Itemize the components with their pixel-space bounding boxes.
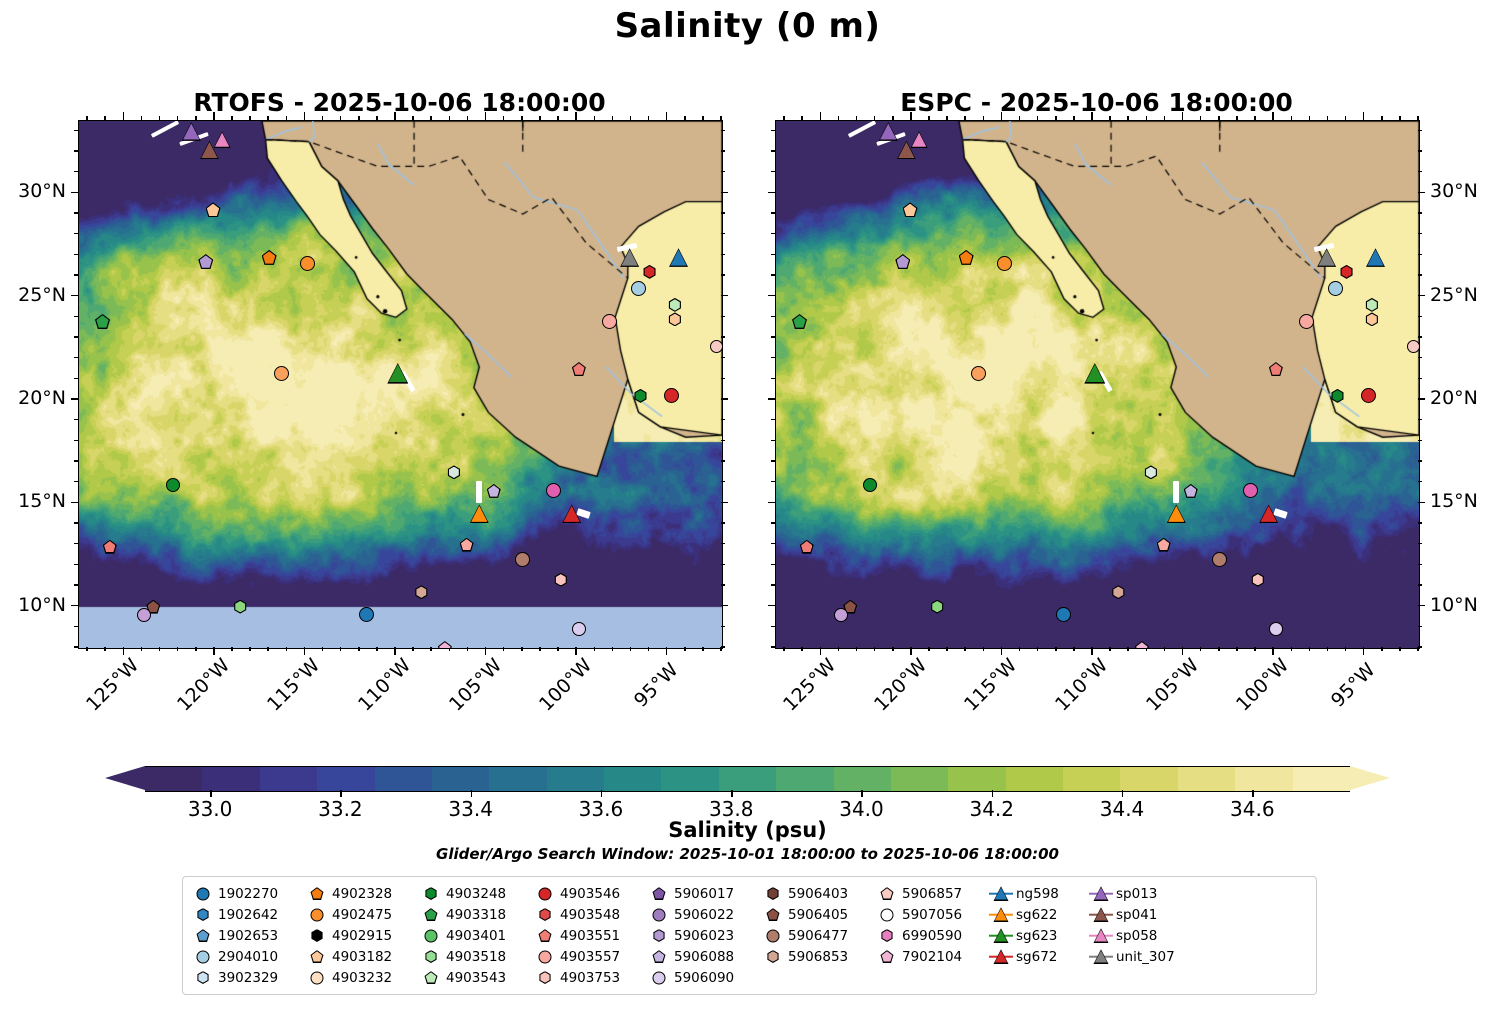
legend-item-5906022[interactable]: 5906022 (647, 904, 759, 925)
legend-box[interactable]: 1902270190264219026532904010390232949023… (182, 876, 1317, 995)
lat-tick (74, 419, 78, 421)
lat-tick (74, 274, 78, 276)
map-marker-4903182[interactable] (903, 202, 918, 217)
legend-item-5906853[interactable]: 5906853 (761, 946, 873, 967)
x-axis-tick-label: 125°W (779, 659, 836, 716)
legend-item-4903232[interactable]: 4903232 (305, 967, 417, 988)
map-marker-4903543[interactable] (792, 314, 807, 329)
lon-tick (1164, 647, 1166, 651)
legend-item-label: 4903753 (557, 970, 620, 986)
y-axis-tick-label: 30°N (1430, 180, 1495, 202)
lat-tick (74, 564, 78, 566)
lat-tick (771, 440, 775, 442)
map-marker-4903248[interactable] (166, 478, 180, 492)
map-marker-4903546[interactable] (1340, 265, 1354, 279)
lat-tick (74, 440, 78, 442)
map-marker-5907056[interactable] (546, 483, 561, 498)
lon-tick (123, 112, 125, 120)
lat-tick (1418, 481, 1422, 483)
map-marker-4903518b[interactable] (1365, 298, 1379, 312)
lon-tick (1091, 112, 1093, 120)
legend-item-4903401[interactable]: 4903401 (419, 925, 531, 946)
lat-tick (1418, 398, 1425, 400)
lon-tick (159, 647, 161, 651)
colorbar-tick (340, 790, 341, 797)
legend-item-4902475[interactable]: 4902475 (305, 904, 417, 925)
lon-tick (141, 116, 143, 120)
legend-item-4903753[interactable]: 4903753 (533, 967, 645, 988)
map-marker-4903548[interactable] (1361, 388, 1376, 403)
map-marker-unit_307[interactable] (620, 248, 639, 267)
map-marker-4903248[interactable] (863, 478, 877, 492)
map-marker-5906090[interactable] (572, 622, 586, 636)
lon-tick (1091, 647, 1093, 655)
colorbar-band-16 (1063, 767, 1120, 791)
lon-tick (249, 116, 251, 120)
colorbar-band-9 (661, 767, 718, 791)
legend-item-label: sg622 (1013, 907, 1057, 923)
lon-tick (213, 112, 215, 120)
legend-item-label: 4903182 (329, 949, 392, 965)
lon-tick (964, 647, 966, 651)
lon-tick (521, 116, 523, 120)
lat-tick (771, 481, 775, 483)
map-marker-7902104[interactable] (1135, 641, 1149, 649)
lon-tick (720, 647, 722, 651)
map-marker-5906090[interactable] (1269, 622, 1283, 636)
legend-item-label: sp013 (1113, 886, 1157, 902)
legend-item-label: 5906023 (671, 928, 734, 944)
lat-tick (1418, 440, 1422, 442)
lon-tick (856, 116, 858, 120)
legend-item-4903557[interactable]: 4903557 (533, 946, 645, 967)
map-marker-4903551b[interactable] (1269, 362, 1283, 376)
x-axis-tick-label: 125°W (82, 659, 139, 716)
map-marker-5906017[interactable] (895, 254, 910, 269)
lat-tick (1418, 626, 1422, 628)
map-marker-5906017[interactable] (198, 254, 213, 269)
legend-item-4903546[interactable]: 4903546 (533, 883, 645, 904)
map-marker-4903546[interactable] (643, 265, 657, 279)
lat-tick (721, 336, 725, 338)
map-marker-4903557[interactable] (1157, 538, 1171, 552)
legend-item-4903551[interactable]: 4903551 (533, 925, 645, 946)
map-marker-4902328[interactable] (262, 250, 277, 265)
map-marker-4902475[interactable] (997, 256, 1012, 271)
lon-tick (1291, 116, 1293, 120)
lon-tick (358, 116, 360, 120)
map-marker-5906853[interactable] (414, 585, 428, 599)
map-marker-4903232[interactable] (668, 312, 682, 326)
lon-tick (648, 647, 650, 651)
map-marker-ng598[interactable] (1366, 248, 1385, 267)
lat-tick (71, 398, 78, 400)
lon-tick (557, 116, 559, 120)
y-axis-tick-label: 15°N (0, 490, 66, 512)
map-marker-4903548[interactable] (664, 388, 679, 403)
search-window-caption: Glider/Argo Search Window: 2025-10-01 18… (0, 845, 1495, 863)
lon-tick (449, 116, 451, 120)
map-marker-sg622[interactable] (1167, 504, 1186, 523)
colorbar-band-3 (317, 767, 374, 791)
legend-item-label: 4903551 (557, 928, 620, 944)
legend-column-blue: 19022701902642190265329040103902329 (191, 883, 303, 990)
lat-tick (71, 192, 78, 194)
map-marker-4903518[interactable] (1144, 465, 1158, 479)
map-marker-4903518b[interactable] (668, 298, 682, 312)
lon-tick (702, 647, 704, 651)
colorbar-extend-max (1350, 766, 1390, 790)
lon-tick (892, 647, 894, 651)
legend-item-label: sp041 (1113, 907, 1157, 923)
legend-column-green: 49032484903318490340149035184903543 (419, 883, 531, 990)
map-marker-5906088[interactable] (487, 484, 501, 498)
colorbar-tick (992, 790, 993, 797)
colorbar-band-2 (260, 767, 317, 791)
map-marker-4903318[interactable] (1330, 389, 1344, 403)
legend-item-label: 5907056 (899, 907, 962, 923)
lon-tick (575, 647, 577, 655)
map-marker-4903182[interactable] (206, 202, 221, 217)
legend-marker-4902915 (305, 926, 329, 946)
lat-tick (721, 316, 725, 318)
lon-tick (340, 647, 342, 651)
legend-item-5906477[interactable]: 5906477 (761, 925, 873, 946)
map-marker-7902104[interactable] (438, 641, 452, 649)
colorbar-band-7 (547, 767, 604, 791)
map-marker-4903401[interactable] (930, 600, 944, 614)
lon-tick (267, 116, 269, 120)
lon-tick (1218, 647, 1220, 651)
map-marker-2904010[interactable] (631, 281, 646, 296)
legend-item-7902104[interactable]: 7902104 (875, 946, 987, 967)
colorbar-band-15 (1006, 767, 1063, 791)
legend-item-3902329[interactable]: 3902329 (191, 967, 303, 988)
salinity-field-rtofs (79, 121, 722, 648)
lat-tick (74, 584, 78, 586)
map-marker-1902270[interactable] (359, 607, 374, 622)
map-marker-4903551b[interactable] (572, 362, 586, 376)
lat-tick (74, 316, 78, 318)
map-panel-espc[interactable] (775, 120, 1420, 649)
lat-tick (74, 378, 78, 380)
map-marker-5906853[interactable] (1111, 585, 1125, 599)
lon-tick (539, 116, 541, 120)
legend-item-2904010[interactable]: 2904010 (191, 946, 303, 967)
legend-marker-6990590 (875, 926, 899, 946)
legend-item-label: 2904010 (215, 949, 278, 965)
colorbar-extend-min (105, 766, 145, 790)
legend-item-sp013[interactable]: sp013 (1089, 883, 1201, 904)
map-marker-4902915[interactable] (971, 366, 986, 381)
lon-tick (1001, 647, 1003, 655)
lon-tick (1381, 116, 1383, 120)
colorbar-band-1 (202, 767, 259, 791)
lon-tick (467, 116, 469, 120)
y-axis-tick-label: 25°N (0, 284, 66, 306)
lat-tick (771, 626, 775, 628)
legend-item-label: sg623 (1013, 928, 1057, 944)
lat-tick (74, 150, 78, 152)
lon-tick (702, 116, 704, 120)
legend-item-label: 4903248 (443, 886, 506, 902)
legend-item-label: 4903318 (443, 907, 506, 923)
lon-tick (1327, 647, 1329, 651)
legend-marker-unit_307 (1089, 947, 1113, 967)
legend-item-label: 5906088 (671, 949, 734, 965)
colorbar-band-11 (776, 767, 833, 791)
lat-tick (721, 233, 725, 235)
map-marker-1902270[interactable] (1056, 607, 1071, 622)
lon-tick (1073, 116, 1075, 120)
legend-marker-4902475 (305, 905, 329, 925)
lat-tick (721, 481, 725, 483)
legend-item-5906017[interactable]: 5906017 (647, 883, 759, 904)
lon-tick (86, 647, 88, 651)
legend-item-6990590[interactable]: 6990590 (875, 925, 987, 946)
legend-item-4903248[interactable]: 4903248 (419, 883, 531, 904)
map-marker-sp013[interactable] (182, 122, 201, 141)
lat-tick (721, 419, 725, 421)
map-marker-4903753[interactable] (1251, 573, 1265, 587)
map-marker-sg622[interactable] (470, 504, 489, 523)
legend-item-4903182[interactable]: 4903182 (305, 946, 417, 967)
lon-tick (1001, 112, 1003, 120)
legend-item-4902915[interactable]: 4902915 (305, 925, 417, 946)
legend-marker-5907056 (875, 905, 899, 925)
lon-tick (286, 647, 288, 651)
map-marker-4902915[interactable] (274, 366, 289, 381)
legend-item-label: 1902642 (215, 907, 278, 923)
legend-item-4903518[interactable]: 4903518 (419, 946, 531, 967)
map-marker-4903551[interactable] (103, 540, 117, 554)
legend-item-1902642[interactable]: 1902642 (191, 904, 303, 925)
colorbar-band-12 (834, 767, 891, 791)
lon-tick (1254, 116, 1256, 120)
map-marker-4902328[interactable] (959, 250, 974, 265)
lon-tick (666, 647, 668, 655)
legend-column-pink: 5906857590705669905907902104 (875, 883, 987, 990)
legend-item-sp041[interactable]: sp041 (1089, 904, 1201, 925)
map-marker-4903753[interactable] (554, 573, 568, 587)
lon-tick (630, 116, 632, 120)
lat-tick (74, 336, 78, 338)
lat-tick (771, 130, 775, 132)
lon-tick (213, 647, 215, 655)
legend-item-5906857[interactable]: 5906857 (875, 883, 987, 904)
colorbar-band-0 (145, 767, 202, 791)
lon-tick (1019, 116, 1021, 120)
legend-marker-4903518 (419, 947, 443, 967)
lat-tick (1418, 564, 1422, 566)
legend-marker-5906023 (647, 926, 671, 946)
legend-item-sp058[interactable]: sp058 (1089, 925, 1201, 946)
lat-tick (771, 378, 775, 380)
lon-tick (910, 647, 912, 655)
lat-tick (1418, 543, 1422, 545)
map-marker-5906857[interactable] (710, 340, 723, 353)
map-marker-2904010[interactable] (1328, 281, 1343, 296)
map-marker-5906088[interactable] (1184, 484, 1198, 498)
map-marker-sg623[interactable] (387, 363, 408, 384)
map-marker-sp013[interactable] (879, 122, 898, 141)
lon-tick (485, 647, 487, 655)
colorbar-tick (1122, 790, 1123, 797)
x-axis-tick-label: 120°W (870, 659, 927, 716)
lat-tick (1418, 254, 1422, 256)
legend-item-5906403[interactable]: 5906403 (761, 883, 873, 904)
legend-item-5907056[interactable]: 5907056 (875, 904, 987, 925)
legend-item-5906088[interactable]: 5906088 (647, 946, 759, 967)
lat-tick (1418, 605, 1425, 607)
legend-marker-5906403 (761, 884, 785, 904)
map-marker-4903518[interactable] (447, 465, 461, 479)
lat-tick (721, 130, 725, 132)
lon-tick (838, 116, 840, 120)
lat-tick (1418, 316, 1422, 318)
legend-marker-4903318 (419, 905, 443, 925)
map-marker-4903551[interactable] (800, 540, 814, 554)
lon-tick (594, 116, 596, 120)
lon-tick (304, 112, 306, 120)
lat-tick (721, 460, 725, 462)
legend-item-4903548[interactable]: 4903548 (533, 904, 645, 925)
lat-tick (1418, 171, 1422, 173)
map-marker-ng598[interactable] (669, 248, 688, 267)
map-marker-4903557[interactable] (460, 538, 474, 552)
colorbar-bands (145, 766, 1350, 792)
lat-tick (1418, 150, 1422, 152)
colorbar-band-4 (375, 767, 432, 791)
legend-item-label: unit_307 (1113, 949, 1175, 965)
legend-item-label: 4902475 (329, 907, 392, 923)
lon-tick (1399, 647, 1401, 651)
map-marker-unit_307[interactable] (1317, 248, 1336, 267)
legend-item-1902270[interactable]: 1902270 (191, 883, 303, 904)
legend-column-red: 49035464903548490355149035574903753 (533, 883, 645, 990)
lat-tick (771, 584, 775, 586)
lat-tick (771, 543, 775, 545)
map-marker-4903401[interactable] (233, 600, 247, 614)
legend-item-4902328[interactable]: 4902328 (305, 883, 417, 904)
lon-tick (177, 116, 179, 120)
legend-marker-4903551 (533, 926, 557, 946)
legend-item-sg623[interactable]: sg623 (989, 925, 1087, 946)
colorbar-tick (861, 790, 862, 797)
x-axis-tick-label: 105°W (445, 659, 502, 716)
lat-tick (71, 295, 78, 297)
legend-item-label: 5906477 (785, 928, 848, 944)
lon-tick (539, 647, 541, 651)
lon-tick (159, 116, 161, 120)
lon-tick (1055, 116, 1057, 120)
legend-item-sg622[interactable]: sg622 (989, 904, 1087, 925)
lat-tick (1418, 378, 1422, 380)
legend-item-4903318[interactable]: 4903318 (419, 904, 531, 925)
colorbar[interactable] (105, 766, 1390, 790)
legend-marker-sg623 (989, 926, 1013, 946)
panel-title-rtofs: RTOFS - 2025-10-06 18:00:00 (78, 88, 721, 117)
lat-tick (721, 605, 728, 607)
legend-item-4903543[interactable]: 4903543 (419, 967, 531, 988)
lat-tick (768, 502, 775, 504)
lon-tick (575, 112, 577, 120)
legend-column-gliders-2: sp013sp041sp058unit_307 (1089, 883, 1201, 990)
lon-tick (177, 647, 179, 651)
lat-tick (721, 584, 725, 586)
map-marker-4903753b[interactable] (602, 314, 617, 329)
legend-item-unit_307[interactable]: unit_307 (1089, 946, 1201, 967)
lat-tick (1418, 502, 1425, 504)
lon-tick (231, 116, 233, 120)
map-marker-sg623[interactable] (1084, 363, 1105, 384)
lat-tick (771, 564, 775, 566)
legend-item-ng598[interactable]: ng598 (989, 883, 1087, 904)
map-marker-5906022[interactable] (137, 608, 151, 622)
map-marker-sp041[interactable] (200, 140, 219, 159)
lat-tick (721, 440, 725, 442)
lon-tick (1182, 112, 1184, 120)
legend-item-5906405[interactable]: 5906405 (761, 904, 873, 925)
colorbar-band-8 (604, 767, 661, 791)
lon-tick (412, 116, 414, 120)
map-marker-sg672[interactable] (1259, 504, 1278, 523)
lon-tick (1363, 112, 1365, 120)
lon-tick (983, 116, 985, 120)
x-axis-tick-label: 120°W (173, 659, 230, 716)
x-axis-tick-label: 110°W (1051, 659, 1108, 716)
lat-tick (771, 646, 775, 648)
map-marker-sg672[interactable] (562, 504, 581, 523)
map-marker-4903232[interactable] (1365, 312, 1379, 326)
lat-tick (74, 254, 78, 256)
map-marker-5906857[interactable] (1407, 340, 1420, 353)
lat-tick (721, 171, 725, 173)
map-panel-rtofs[interactable] (78, 120, 723, 649)
lat-tick (74, 130, 78, 132)
legend-column-brown: 5906403590640559064775906853 (761, 883, 873, 990)
legend-item-label: 5906017 (671, 886, 734, 902)
lat-tick (74, 212, 78, 214)
lat-tick (771, 171, 775, 173)
legend-item-5906090[interactable]: 5906090 (647, 967, 759, 988)
map-marker-5906477[interactable] (515, 552, 530, 567)
legend-marker-1902270 (191, 884, 215, 904)
lat-tick (768, 605, 775, 607)
map-marker-4903543[interactable] (95, 314, 110, 329)
map-marker-sp041[interactable] (897, 140, 916, 159)
lon-tick (983, 647, 985, 651)
lon-tick (86, 116, 88, 120)
lon-tick (1037, 647, 1039, 651)
y-axis-tick-label: 10°N (1430, 594, 1495, 616)
lon-tick (838, 647, 840, 651)
legend-item-1902653[interactable]: 1902653 (191, 925, 303, 946)
lat-tick (721, 502, 728, 504)
map-marker-5906477[interactable] (1212, 552, 1227, 567)
map-marker-4903318[interactable] (633, 389, 647, 403)
map-marker-5906022[interactable] (834, 608, 848, 622)
legend-marker-5906477 (761, 926, 785, 946)
legend-item-label: 6990590 (899, 928, 962, 944)
lat-tick (721, 192, 728, 194)
map-marker-4902475[interactable] (300, 256, 315, 271)
legend-item-5906023[interactable]: 5906023 (647, 925, 759, 946)
map-marker-5907056[interactable] (1243, 483, 1258, 498)
map-marker-4903753b[interactable] (1299, 314, 1314, 329)
lat-tick (721, 295, 728, 297)
legend-item-sg672[interactable]: sg672 (989, 946, 1087, 967)
